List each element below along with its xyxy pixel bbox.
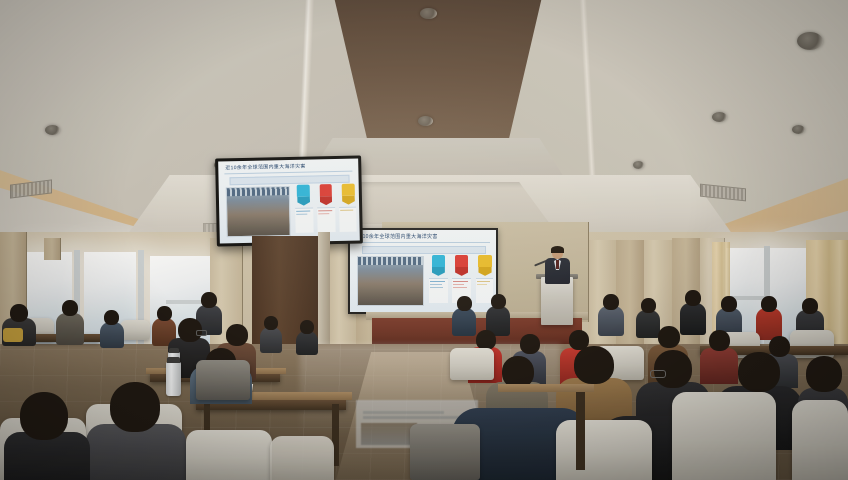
bottle-cap (167, 357, 180, 363)
monitor-column-edge (318, 232, 330, 360)
desk-leg (576, 392, 585, 470)
audience-member (598, 294, 624, 334)
chair (556, 420, 652, 480)
audience-head (761, 296, 777, 312)
wall-mounted-tv: 近10余年全球范围内重大海洋灾害 (215, 155, 363, 246)
audience-head (226, 324, 248, 346)
audience-head (201, 292, 217, 308)
audience-torso (598, 306, 624, 336)
audience-head (574, 346, 614, 384)
audience-torso (56, 313, 84, 345)
audience-head (721, 296, 737, 312)
audience-torso (86, 424, 186, 480)
slide-badge-cyan-text (429, 278, 448, 304)
downlight-icon (633, 161, 644, 169)
audience-head (300, 320, 314, 334)
bottle-cap (169, 348, 179, 353)
monitor-slide-title: 近10余年全球范围内重大海洋灾害 (225, 163, 306, 172)
audience-member (452, 296, 476, 334)
audience-member (2, 304, 36, 344)
audience-head (520, 334, 540, 354)
audience-head (641, 298, 656, 313)
monitor-slide-photo-strip (227, 187, 289, 196)
audience-member (100, 310, 124, 346)
audience-head (709, 330, 730, 351)
audience-member-foreground (4, 392, 90, 480)
audience-member (56, 300, 84, 344)
desk-top (498, 384, 594, 392)
podium (541, 277, 573, 325)
audience-head (457, 296, 472, 311)
downlight-icon (797, 32, 823, 50)
audience-member (486, 294, 510, 334)
monitor-slide-photo (226, 186, 291, 237)
chair (270, 436, 334, 480)
audience-member (756, 296, 782, 338)
chair (186, 430, 272, 480)
thermos-bottle (166, 362, 181, 396)
monitor-badge-cyan (297, 184, 310, 206)
ceiling-lower-step-inner (330, 182, 550, 224)
audience-head (738, 352, 780, 392)
monitor-badge-yellow-text (340, 206, 357, 232)
slide-photo (357, 256, 423, 306)
audience-head (806, 356, 842, 392)
chair (672, 392, 776, 480)
audience-head (62, 300, 78, 316)
slide-photo-strip (358, 257, 422, 265)
downlight-icon (712, 112, 727, 122)
speaker-at-podium (544, 247, 570, 283)
audience-head (10, 304, 28, 322)
downlight-icon (418, 116, 433, 126)
slide-subtitle-bar (362, 246, 487, 255)
downlight-icon (420, 8, 437, 19)
speaker-hair (551, 246, 564, 253)
eyeglasses-icon (650, 370, 666, 378)
slide-title: 近10余年全球范围内重大海洋灾害 (357, 233, 437, 240)
slide-title-rule (356, 242, 490, 243)
slide-badge-yellow (478, 255, 491, 276)
audience-torso (296, 331, 318, 355)
audience-head (658, 326, 680, 348)
audience-member-foreground (86, 382, 186, 480)
monitor-badge-cyan-text (295, 207, 314, 233)
audience-head (802, 298, 818, 314)
audience-head (491, 294, 506, 309)
audience-member (260, 316, 282, 352)
monitor-badge-red (319, 184, 332, 206)
monitor-badge-red-text (317, 207, 336, 233)
monitor-badge-yellow (342, 183, 355, 205)
chair (792, 400, 848, 480)
chair (120, 320, 150, 340)
slide-badge-red (455, 255, 468, 276)
audience-head (264, 316, 278, 330)
audience-member (296, 320, 318, 354)
scarf (3, 328, 23, 342)
slide-badge-cyan (432, 255, 445, 276)
audience-head (685, 290, 701, 306)
downlight-icon (792, 125, 805, 134)
chair (410, 424, 480, 480)
monitor-slide-canvas: 近10余年全球范围内重大海洋灾害 (218, 159, 360, 244)
audience-head (603, 294, 619, 310)
audience-head (476, 330, 496, 350)
audience-head (104, 310, 119, 325)
audience-head (110, 382, 160, 432)
audience-head (20, 392, 68, 440)
chair (196, 360, 250, 400)
audience-head (654, 350, 692, 388)
downlight-icon (45, 125, 60, 135)
speaker-tie (556, 260, 559, 269)
conference-room-photo: 近10余年全球范围内重大海洋灾害 (0, 0, 848, 480)
audience-torso (100, 322, 124, 348)
audience-torso (260, 327, 282, 353)
eyeglasses-icon (196, 330, 207, 336)
partition-panel-left (44, 238, 61, 260)
